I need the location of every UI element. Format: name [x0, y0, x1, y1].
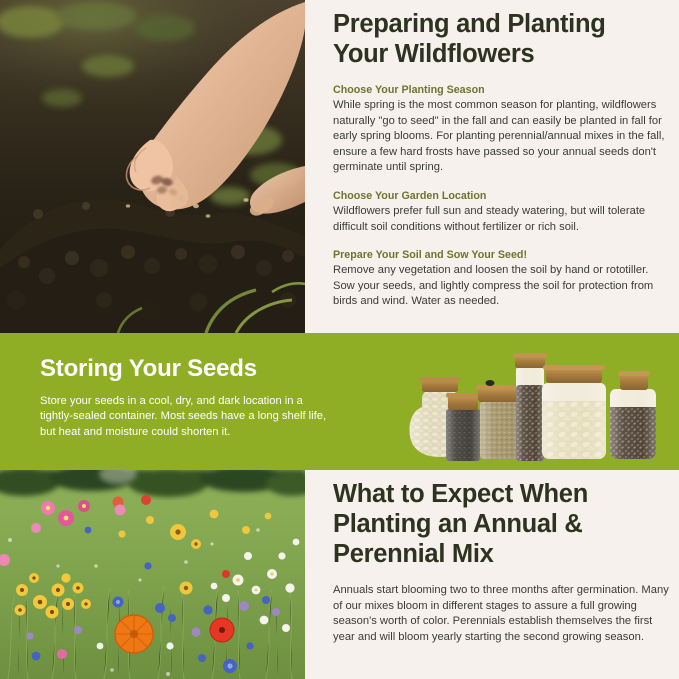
flower-orange-poppy: [115, 615, 153, 653]
seed-jars-photo: [378, 341, 668, 463]
seed-jars-illustration: [378, 341, 668, 463]
section-what-to-expect: What to Expect When Planting an Annual &…: [0, 470, 679, 679]
page-title-line-2: Your Wildflowers: [333, 40, 534, 68]
infographic-page: Preparing and Planting Your Wildflowers …: [0, 0, 679, 679]
body-planting-season: While spring is the most common season f…: [333, 98, 671, 176]
section-preparing-and-planting: Preparing and Planting Your Wildflowers …: [0, 0, 679, 333]
expect-title-line-2: Planting an Annual &: [333, 510, 582, 538]
expect-title: What to Expect When Planting an Annual &…: [333, 479, 671, 569]
jar-striped-seeds: [610, 371, 656, 459]
storing-title: Storing Your Seeds: [40, 355, 330, 383]
storing-text-column: Storing Your Seeds Store your seeds in a…: [40, 355, 330, 440]
soil-hands-illustration: [0, 0, 305, 333]
jar-pumpkin-seeds: [542, 365, 606, 459]
expect-body: Annuals start blooming two to three mont…: [333, 583, 671, 645]
body-garden-location: Wildflowers prefer full sun and steady w…: [333, 204, 671, 235]
body-prepare-soil: Remove any vegetation and loosen the soi…: [333, 263, 671, 310]
page-title-line-1: Preparing and Planting: [333, 10, 606, 38]
jar-tall-dark-seeds: [513, 353, 547, 461]
expect-text-column: What to Expect When Planting an Annual &…: [333, 479, 671, 645]
subheading-planting-season: Choose Your Planting Season: [333, 83, 671, 97]
subheading-garden-location: Choose Your Garden Location: [333, 189, 671, 203]
expect-title-line-3: Perennial Mix: [333, 540, 494, 568]
meadow-illustration: [0, 470, 305, 679]
section-storing-your-seeds: Storing Your Seeds Store your seeds in a…: [0, 333, 679, 470]
jar-black-seeds: [446, 393, 480, 461]
page-title: Preparing and Planting Your Wildflowers: [333, 9, 671, 69]
planting-text-column: Preparing and Planting Your Wildflowers …: [333, 9, 671, 329]
wildflower-meadow-photo: [0, 470, 305, 679]
expect-title-line-1: What to Expect When: [333, 480, 588, 508]
seed-planting-photo: [0, 0, 305, 333]
subheading-prepare-soil: Prepare Your Soil and Sow Your Seed!: [333, 248, 671, 262]
storing-body: Store your seeds in a cool, dry, and dar…: [40, 394, 330, 440]
